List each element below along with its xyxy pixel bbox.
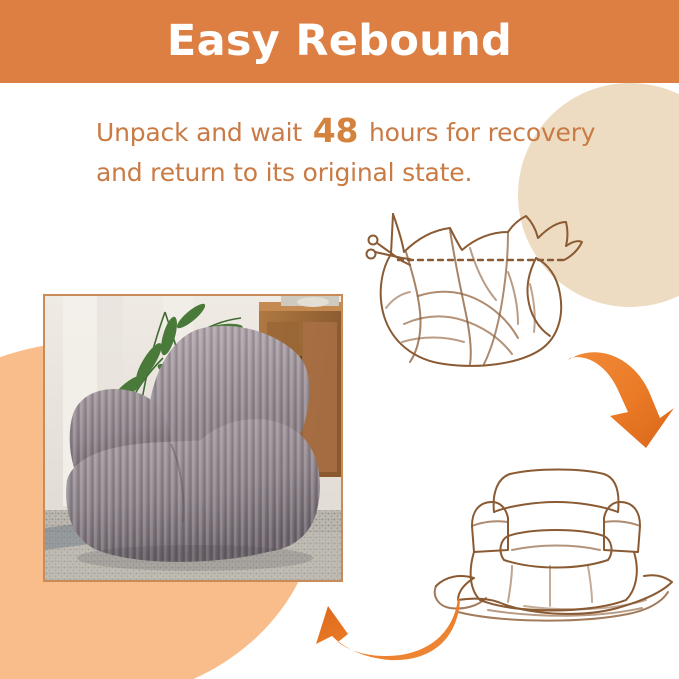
subtitle-part-3: and return to its original state. [96,158,472,187]
header-banner: Easy Rebound [0,0,679,83]
unpacked-beanbag-sketch [428,440,676,625]
subtitle-part-1: Unpack and wait [96,118,302,147]
page-title: Easy Rebound [167,20,512,63]
arrow-down-right-icon [562,332,678,450]
subtitle-text: Unpack and wait 48 hours for recovery an… [96,108,616,190]
subtitle-part-2: hours for recovery [369,118,595,147]
product-photo [43,294,343,582]
hours-number: 48 [310,111,362,150]
easy-rebound-infographic: Easy Rebound Unpack and wait 48 hours fo… [0,0,679,679]
illustration-unpacked-beanbag [428,440,676,625]
arrow-up-left-icon [302,582,462,670]
product-photo-image [45,296,341,580]
